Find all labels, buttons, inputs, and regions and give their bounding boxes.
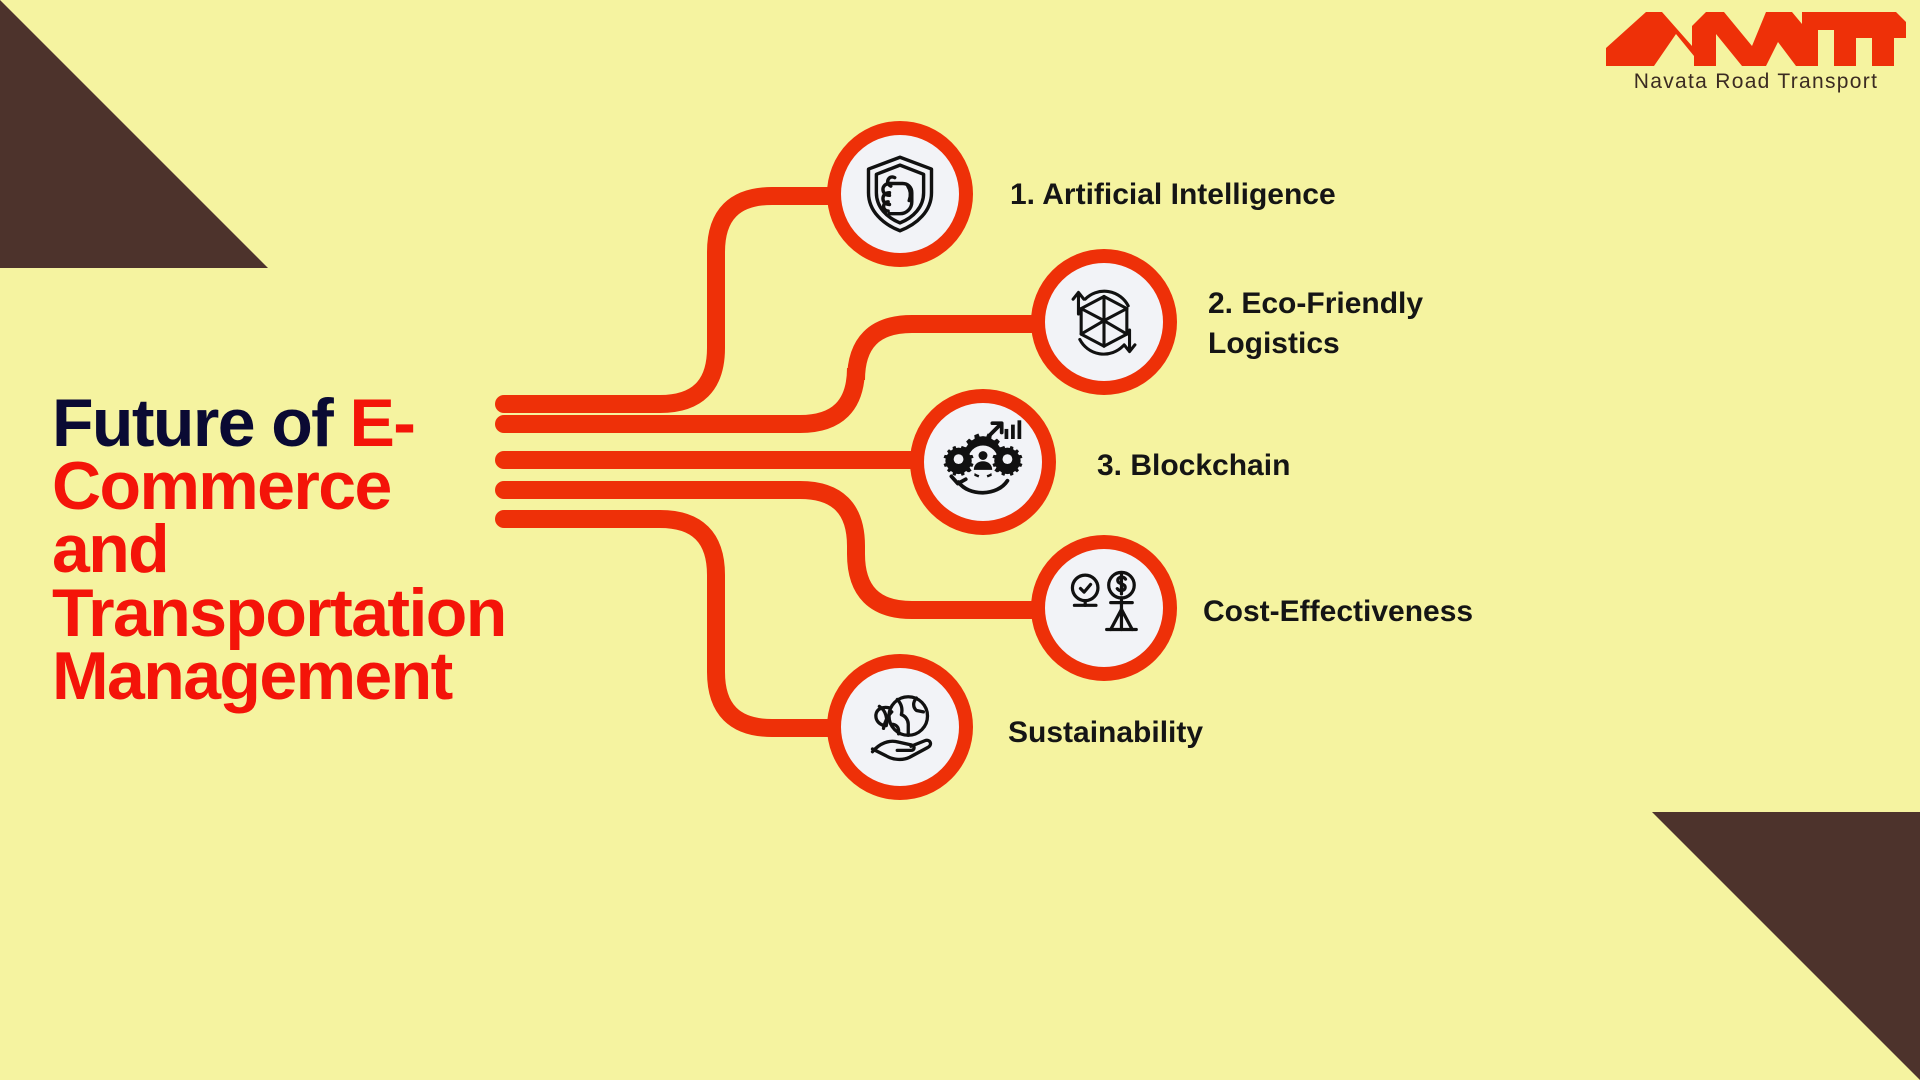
node-label-sustainability: Sustainability — [1008, 713, 1203, 753]
title-line-1: Future of E- — [52, 392, 522, 455]
node-circle-artificial-intelligence[interactable] — [827, 121, 973, 267]
gears-person-chart-icon — [937, 416, 1029, 508]
node-label-blockchain: 3. Blockchain — [1097, 446, 1290, 486]
top-left-corner-wedge — [0, 0, 268, 268]
balance-scale-icon — [1061, 565, 1147, 651]
hand-earth-leaf-icon — [856, 683, 944, 771]
node-circle-eco-friendly-logistics[interactable] — [1031, 249, 1177, 395]
logo-caption: Navata Road Transport — [1606, 71, 1906, 92]
title-line-2: Commerce — [52, 455, 522, 518]
node-label-artificial-intelligence: 1. Artificial Intelligence — [1010, 175, 1336, 215]
page-title: Future of E- Commerce and Transportation… — [52, 392, 522, 708]
title-line-3: and — [52, 518, 522, 581]
title-line-5: Management — [52, 645, 522, 708]
node-circle-sustainability[interactable] — [827, 654, 973, 800]
shield-fist-icon — [858, 152, 942, 236]
navata-wordmark-icon — [1606, 8, 1906, 70]
navata-logo: Navata Road Transport — [1606, 8, 1906, 92]
node-circle-cost-effectiveness[interactable] — [1031, 535, 1177, 681]
title-line-4: Transportation — [52, 582, 522, 645]
node-label-eco-friendly-logistics: 2. Eco-Friendly Logistics — [1208, 284, 1423, 363]
node-circle-blockchain[interactable] — [910, 389, 1056, 535]
connector-branch-5 — [504, 519, 830, 728]
bottom-right-corner-wedge — [1652, 812, 1920, 1080]
node-label-cost-effectiveness: Cost-Effectiveness — [1203, 592, 1473, 632]
infographic-canvas: Navata Road Transport Future of E- Comme… — [0, 0, 1920, 1080]
connector-branch-1 — [504, 196, 830, 404]
cube-cycle-icon — [1061, 279, 1147, 365]
